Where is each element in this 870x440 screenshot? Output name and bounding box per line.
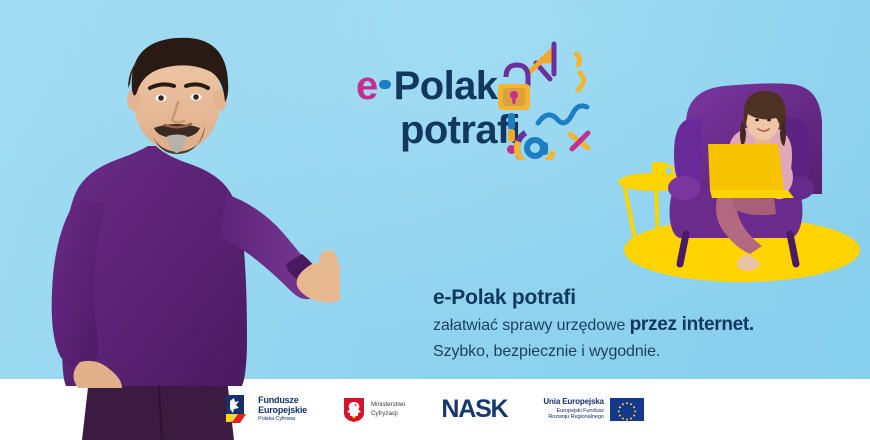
padlock-icon — [498, 65, 530, 110]
dash-mark-icon — [576, 54, 584, 90]
promo-banner: ePolak potrafi — [0, 0, 870, 440]
ue-line-1: Unia Europejska — [543, 398, 603, 407]
cross-mark-icon — [570, 133, 588, 149]
logo-word-polak: Polak — [394, 64, 498, 108]
claim-subtitle: załatwiać sprawy urzędowe przez internet… — [433, 313, 833, 337]
mc-line-2: Cyfryzacji — [371, 410, 405, 418]
polish-eagle-icon — [343, 397, 365, 423]
claim-subtitle-bold: przez internet. — [630, 314, 754, 335]
man-presenting-photo — [20, 18, 340, 440]
claim-block: e-Polak potrafi załatwiać sprawy urzędow… — [433, 286, 833, 363]
fundusze-europejskie-logo: Fundusze Europejskie Polska Cyfrowa — [226, 395, 307, 425]
claim-subtitle-regular: załatwiać sprawy urzędowe — [433, 317, 630, 334]
ministerstwo-cyfryzacji-logo: Ministerstwo Cyfryzacji — [343, 397, 405, 423]
unia-europejska-logo: Unia Europejska Europejski Fundusz Rozwo… — [543, 398, 643, 421]
squiggle-line-icon — [538, 106, 587, 123]
logo-dot-icon — [379, 80, 391, 89]
eu-flag-icon — [610, 398, 644, 421]
fe-flag-icon — [226, 395, 252, 425]
claim-title: e-Polak potrafi — [433, 286, 833, 310]
mc-logo-text: Ministerstwo Cyfryzacji — [371, 401, 405, 418]
nask-logo: NASK — [441, 395, 507, 424]
claim-tagline: Szybko, bezpiecznie i wygodnie. — [433, 342, 833, 362]
at-sign-icon — [510, 123, 561, 160]
ue-line-3: Rozwoju Regionalnego — [543, 414, 603, 420]
mc-line-1: Ministerstwo — [371, 401, 405, 409]
nask-wordmark: NASK — [441, 395, 507, 424]
logo-e-letter: e — [356, 64, 378, 108]
cursor-arrow-icon — [528, 43, 556, 79]
logo-line-one: ePolak — [356, 66, 497, 106]
fe-line-3: Polska Cyfrowa — [258, 417, 307, 423]
fe-line-2: Europejskie — [258, 406, 307, 416]
woman-with-laptop-photo — [612, 58, 862, 288]
footer-logo-strip: Fundusze Europejskie Polska Cyfrowa Mini… — [0, 379, 870, 440]
logo-decorations — [492, 30, 607, 160]
ue-logo-text: Unia Europejska Europejski Fundusz Rozwo… — [543, 398, 603, 420]
fe-logo-text: Fundusze Europejskie Polska Cyfrowa — [258, 396, 307, 422]
